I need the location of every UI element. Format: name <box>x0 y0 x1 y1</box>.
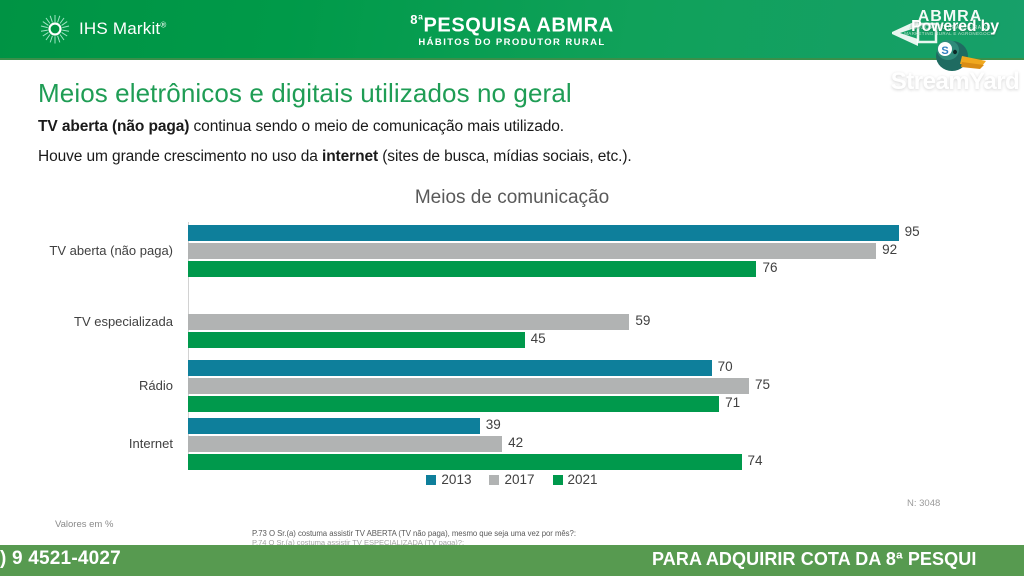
chart-bar-row: 45 <box>188 332 980 348</box>
chart-bar-row: 59 <box>188 314 980 330</box>
abmra-survey-title: 8ªPESQUISA ABMRA <box>0 9 1024 37</box>
banner-phone-number: ) 9 4521-4027 <box>0 548 121 570</box>
chart-bar[interactable] <box>188 378 749 394</box>
chart-category-label: TV especializada <box>8 314 173 329</box>
chart-bar[interactable] <box>188 332 525 348</box>
chart-bar-row: 76 <box>188 261 980 277</box>
page-title: Meios eletrônicos e digitais utilizados … <box>38 78 572 109</box>
bullet-1-emphasis: TV aberta (não paga) <box>38 118 189 135</box>
abmra-survey-subtitle: HÁBITOS DO PRODUTOR RURAL <box>0 37 1024 49</box>
chart-category-group: 394274 <box>188 418 980 472</box>
chart-legend-item[interactable]: 2021 <box>553 472 598 487</box>
chart-bar-value-label: 42 <box>508 435 523 450</box>
chart-legend-item[interactable]: 2013 <box>426 472 471 487</box>
chart-bar-value-label: 71 <box>725 395 740 410</box>
chart-legend: 201320172021 <box>0 472 1024 487</box>
chart-legend-swatch <box>426 475 436 485</box>
chart-bar-row: 39 <box>188 418 980 434</box>
bullet-2-emphasis: internet <box>322 148 378 165</box>
chart-bar-row: 75 <box>188 378 980 394</box>
chart-bar-value-label: 45 <box>531 331 546 346</box>
chart-bar[interactable] <box>188 360 712 376</box>
chart-bar[interactable] <box>188 314 629 330</box>
abmra-survey-logo: 8ªPESQUISA ABMRA HÁBITOS DO PRODUTOR RUR… <box>0 9 1024 49</box>
chart-bar[interactable] <box>188 243 876 259</box>
chart-plot-area: 959276TV aberta (não paga)5945TV especia… <box>188 222 980 458</box>
survey-ordinal: 8ª <box>410 12 423 27</box>
chart-bar[interactable] <box>188 396 719 412</box>
values-unit-note: Valores em % <box>55 519 113 530</box>
presentation-slide: IHS Markit® 8ªPESQUISA ABMRA HÁBITOS DO … <box>0 0 1024 576</box>
chart-bar-value-label: 95 <box>905 224 920 239</box>
streamyard-watermark: Powered by S StreamYard <box>886 10 1024 115</box>
chart-bar-value-label: 76 <box>762 260 777 275</box>
sample-size-note: N: 3048 <box>907 498 940 509</box>
chart-bar-row: 95 <box>188 225 980 241</box>
bullet-line-2: Houve um grande crescimento no uso da in… <box>38 148 632 166</box>
chart-bar-row: 92 <box>188 243 980 259</box>
chart-bar-value-label: 74 <box>748 453 763 468</box>
chart-legend-label: 2013 <box>441 472 471 487</box>
chart-legend-swatch <box>553 475 563 485</box>
streamyard-powered-by-label: Powered by <box>886 18 1024 36</box>
chart-category-label: Internet <box>8 436 173 451</box>
chart-bar-row: 71 <box>188 396 980 412</box>
header-bottom-rule <box>0 58 1024 60</box>
streamyard-product-name: StreamYard <box>884 68 1024 96</box>
chart-bar-row <box>188 296 980 312</box>
chart-legend-label: 2021 <box>568 472 598 487</box>
chart-bar[interactable] <box>188 436 502 452</box>
chart-bar-value-label: 39 <box>486 417 501 432</box>
chart-bar[interactable] <box>188 225 899 241</box>
chart-bar[interactable] <box>188 418 480 434</box>
chart-legend-swatch <box>489 475 499 485</box>
chart-bar-value-label: 75 <box>755 377 770 392</box>
chart-category-label: TV aberta (não paga) <box>8 243 173 258</box>
chart-bar[interactable] <box>188 454 742 470</box>
source-question-note: P.73 O Sr.(a) costuma assistir TV ABERTA… <box>252 529 576 538</box>
slide-header: IHS Markit® 8ªPESQUISA ABMRA HÁBITOS DO … <box>0 0 1024 60</box>
chart-bar-value-label: 92 <box>882 242 897 257</box>
bullet-1-text: continua sendo o meio de comunicação mai… <box>189 118 564 135</box>
chart-legend-item[interactable]: 2017 <box>489 472 534 487</box>
chart-bar-row: 74 <box>188 454 980 470</box>
chart-bar-value-label: 59 <box>635 313 650 328</box>
chart-category-group: 5945 <box>188 296 980 350</box>
chart-title: Meios de comunicação <box>0 187 1024 209</box>
chart-category-label: Rádio <box>8 378 173 393</box>
chart-bar-row: 70 <box>188 360 980 376</box>
bullet-2-suffix: (sites de busca, mídias sociais, etc.). <box>378 148 632 165</box>
chart-legend-label: 2017 <box>504 472 534 487</box>
chart-bar-value-label: 70 <box>718 359 733 374</box>
chart-category-group: 707571 <box>188 360 980 414</box>
bullet-2-prefix: Houve um grande crescimento no uso da <box>38 148 322 165</box>
svg-text:S: S <box>941 45 948 57</box>
bullet-line-1: TV aberta (não paga) continua sendo o me… <box>38 118 564 136</box>
chart-category-group: 959276 <box>188 225 980 279</box>
banner-cta-text: PARA ADQUIRIR COTA DA 8ª PESQUI <box>652 549 976 570</box>
chart-bar[interactable] <box>188 261 756 277</box>
chart-bar-row: 42 <box>188 436 980 452</box>
